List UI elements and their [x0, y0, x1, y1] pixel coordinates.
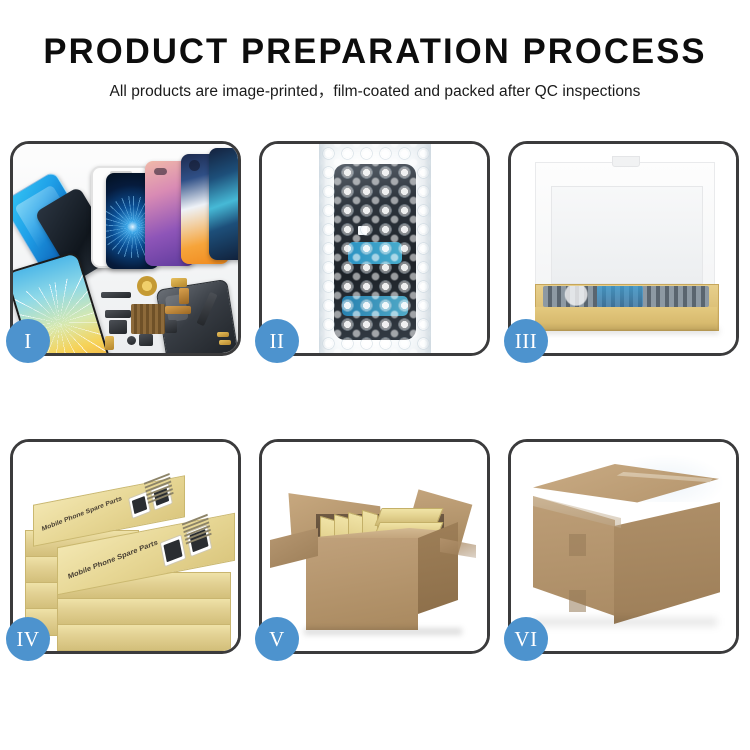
carton-seal-lower [569, 590, 586, 612]
box-stack: Mobile Phone Spare Parts Mobile Phone Sp… [21, 472, 236, 647]
step-5-image [262, 442, 487, 651]
step-6-image [511, 442, 736, 651]
bubble-pattern-offset [319, 144, 431, 353]
process-step-4[interactable]: Mobile Phone Spare Parts Mobile Phone Sp… [10, 439, 241, 654]
step-3-image [511, 144, 736, 353]
part-connector [171, 278, 187, 287]
part-cable [165, 306, 191, 314]
box-label-title-rear: Mobile Phone Spare Parts [41, 495, 122, 533]
page-header: PRODUCT PREPARATION PROCESS All products… [0, 0, 750, 100]
part-coil [137, 276, 157, 296]
page-title: PRODUCT PREPARATION PROCESS [4, 34, 747, 69]
part-screw-small-2 [219, 340, 231, 345]
part-button [165, 320, 177, 333]
box-lid-inner [551, 186, 703, 284]
part-camera [109, 320, 127, 334]
carton-side [418, 522, 458, 614]
process-step-6[interactable]: VI [508, 439, 739, 654]
box-label-title-front: Mobile Phone Spare Parts [67, 538, 158, 581]
wrapped-product-highlight [597, 286, 643, 307]
step-badge-6: VI [504, 617, 548, 661]
part-logic-board [131, 304, 165, 334]
part-sim-tray [105, 336, 114, 350]
part-flex [179, 288, 189, 304]
process-grid: I II I [10, 141, 740, 654]
step-badge-3: III [504, 319, 548, 363]
part-speaker [101, 292, 131, 298]
process-step-3[interactable]: III [508, 141, 739, 356]
part-bracket [105, 310, 131, 318]
part-vibrator [139, 334, 153, 346]
process-step-1[interactable]: I [10, 141, 241, 356]
step-badge-2: II [255, 319, 299, 363]
step-2-image [262, 144, 487, 353]
phone-teal [209, 148, 238, 260]
page-subtitle: All products are image-printed，film-coat… [0, 84, 750, 100]
box-lid-tab [612, 156, 640, 167]
step-1-image [13, 144, 238, 353]
carton-front [306, 538, 418, 630]
part-screw [127, 336, 136, 345]
carton-seal-upper [569, 534, 586, 556]
step-badge-5: V [255, 617, 299, 661]
part-screw-small [217, 332, 229, 337]
step-4-image: Mobile Phone Spare Parts Mobile Phone Sp… [13, 442, 238, 651]
box-tray-face [535, 307, 717, 329]
step-badge-4: IV [6, 617, 50, 661]
step-badge-1: I [6, 319, 50, 363]
process-step-2[interactable]: II [259, 141, 490, 356]
process-step-5[interactable]: V [259, 439, 490, 654]
